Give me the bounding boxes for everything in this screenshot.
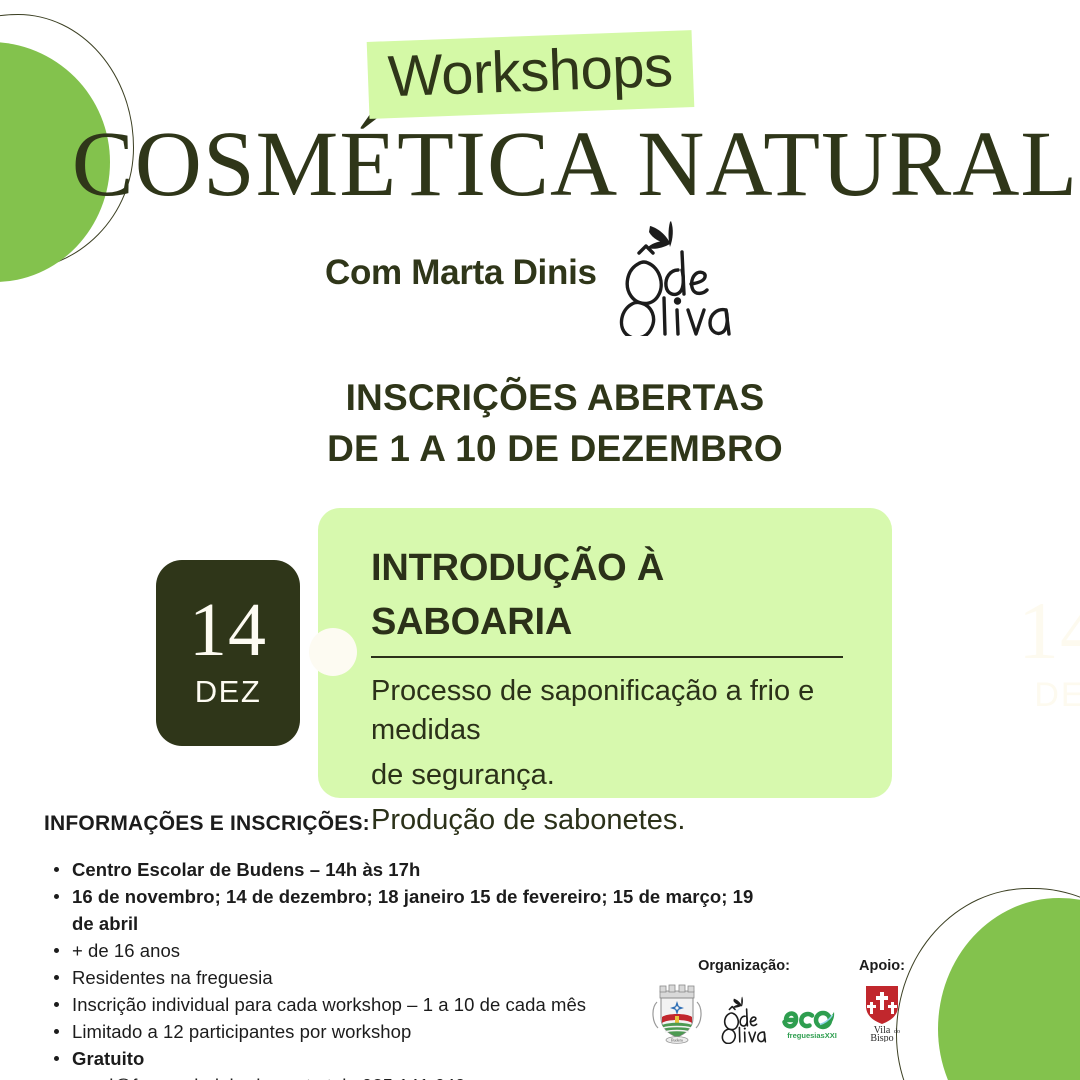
list-item: 16 de novembro; 14 de dezembro; 18 janei… [44, 883, 764, 937]
poster-title: COSMÉTICA NATURAL [0, 118, 1080, 211]
next-workshop-ghost-card: 14 DE [1004, 556, 1080, 752]
inscricoes-block: INSCRIÇÕES ABERTAS DE 1 A 10 DE DEZEMBRO [0, 372, 1080, 474]
organizacao-label: Organização: [645, 958, 843, 974]
bispo-label: Bispo [870, 1033, 893, 1042]
list-item: Centro Escolar de Budens – 14h às 17h [44, 856, 764, 883]
bottom-right-green-blob [938, 898, 1080, 1080]
workshops-badge-label: Workshops [387, 37, 674, 108]
apoio-label: Apoio: [856, 958, 908, 974]
workshop-card: INTRODUÇÃO À SABOARIA Processo de saponi… [318, 508, 892, 798]
workshop-title: INTRODUÇÃO À SABOARIA [371, 542, 791, 650]
workshop-date-day: 14 [189, 596, 267, 664]
eco-caption: freguesiasXXI [787, 1031, 837, 1040]
olive-leaf-icon [647, 221, 673, 249]
do-label: do [894, 1029, 900, 1035]
apoio-logo-row: Vila do Bispo [856, 982, 908, 1042]
workshop-description-line-1: Processo de saponificação a frio e medid… [371, 672, 852, 750]
olive-leaf-icon [733, 997, 743, 1008]
inscricoes-line-2: DE 1 A 10 DE DEZEMBRO [30, 423, 1080, 474]
inscricoes-line-1: INSCRIÇÕES ABERTAS [30, 372, 1080, 423]
ode-oliva-footer-logo [717, 994, 773, 1044]
workshop-description: Processo de saponificação a frio e medid… [371, 672, 852, 841]
budens-crest-icon: Budens [645, 982, 709, 1044]
workshops-badge-highlight: Workshops [367, 30, 694, 119]
organizacao-logo-row: Budens [645, 982, 843, 1044]
apoio-block: Apoio: Vila do Bispo [856, 958, 908, 1042]
workshop-date-month: DEZ [195, 674, 262, 710]
bottom-right-outline-blob [896, 888, 1080, 1080]
list-item: Gratuito [44, 1045, 764, 1072]
ghost-card-day: 14 [1018, 593, 1080, 668]
presenter-name: Com Marta Dinis [325, 253, 597, 293]
workshop-divider [371, 656, 843, 658]
ghost-card-month: DE [1034, 676, 1080, 715]
workshops-badge: Workshops [368, 36, 693, 113]
poster: 14 DE Workshops COSMÉTICA NATURAL Com Ma… [0, 0, 1080, 1080]
vila-do-bispo-logo: Vila do Bispo [856, 982, 908, 1042]
list-item-contact[interactable]: geral@freguesiadebudens.pt ; tel.: 925 1… [44, 1072, 764, 1080]
organizacao-block: Organização: [645, 958, 843, 1044]
eco-freguesias-xxi-logo: freguesiasXXI [781, 1002, 843, 1044]
budens-crest-caption: Budens [671, 1038, 683, 1043]
date-card-connector-dot [309, 628, 357, 676]
ode-oliva-logo [608, 218, 748, 336]
workshop-description-line-3: Produção de sabonetes. [371, 801, 852, 840]
workshop-description-line-2: de segurança. [371, 756, 852, 795]
workshop-date-card: 14 DEZ [156, 560, 300, 746]
